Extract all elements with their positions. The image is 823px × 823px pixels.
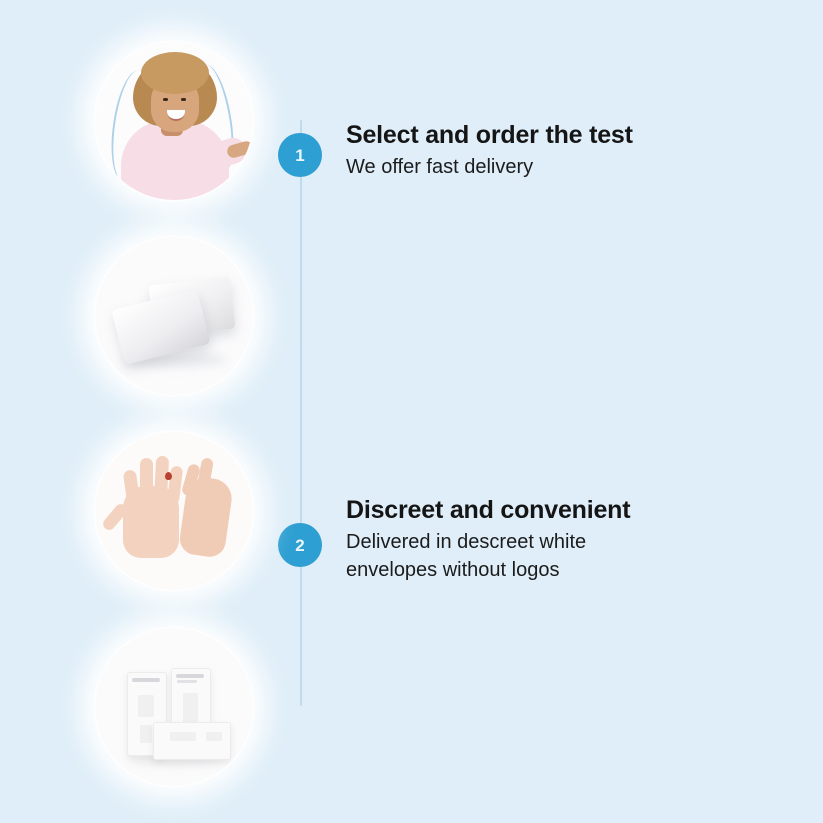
step-connector-line [300, 120, 302, 706]
step-4-image-circle [88, 621, 260, 793]
step-number-badge-1: 1 [278, 133, 322, 177]
step-3-image-circle [88, 425, 260, 597]
left-hand-icon [123, 486, 179, 558]
step-2-description: Delivered in descreet white envelopes wi… [346, 528, 776, 585]
white-padded-envelopes-photo [95, 237, 253, 395]
step-1-description: We offer fast delivery [346, 153, 776, 181]
step-2-description-line-1: Delivered in descreet white [346, 528, 776, 556]
rapid-test-cassettes-photo [95, 628, 253, 786]
step-1-image-circle [88, 35, 260, 207]
step-1-description-line-1: We offer fast delivery [346, 153, 776, 181]
step-2-title: Discreet and convenient [346, 496, 776, 526]
step-1-text: Select and order the test We offer fast … [346, 121, 776, 181]
blood-drop-icon [165, 472, 172, 480]
test-cassette-front-icon [153, 722, 231, 760]
step-1-title: Select and order the test [346, 121, 776, 151]
step-2-image-circle [88, 230, 260, 402]
smiling-woman-pointing-photo [95, 42, 253, 200]
step-2-description-line-2: envelopes without logos [346, 556, 776, 584]
how-it-works-infographic: 1 Select and order the test We offer fas… [0, 0, 823, 823]
step-2-text: Discreet and convenient Delivered in des… [346, 496, 776, 584]
hands-finger-prick-photo [95, 432, 253, 590]
step-number-badge-2: 2 [278, 523, 322, 567]
